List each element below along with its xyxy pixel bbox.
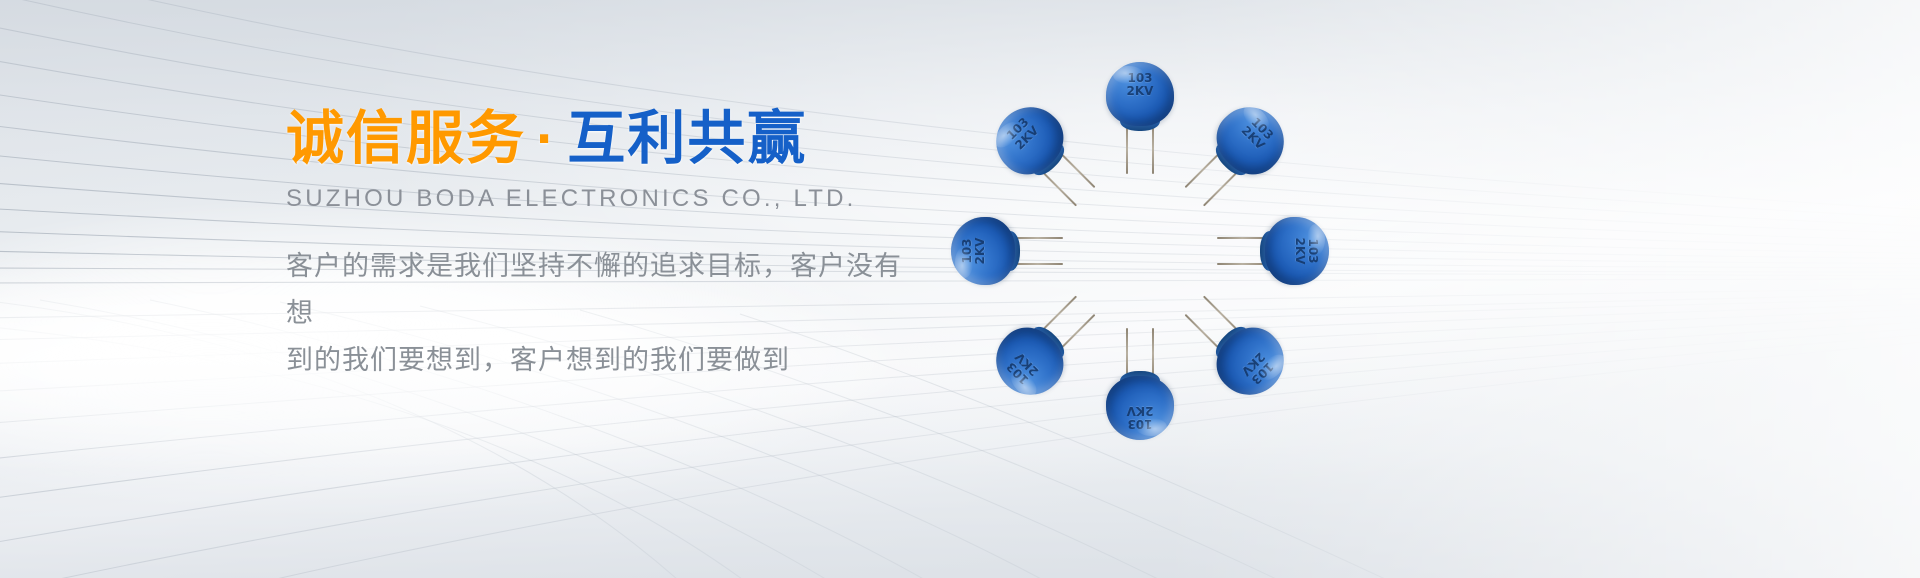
capacitor-lead — [1217, 237, 1263, 239]
capacitor-ring: 1032KV1032KV1032KV1032KV1032KV1032KV1032… — [915, 36, 1365, 456]
capacitor-marking: 1032KV — [961, 217, 986, 285]
capacitor-disc: 1032KV — [982, 93, 1075, 186]
banner-copy: 诚信服务·互利共赢 SUZHOU BODA ELECTRONICS CO., L… — [286, 108, 1006, 384]
capacitor-lead — [1017, 237, 1063, 239]
capacitor-marking: 1032KV — [1294, 217, 1319, 285]
capacitor-marking: 1032KV — [1106, 72, 1174, 97]
body-line-1: 客户的需求是我们坚持不懈的追求目标，客户没有想 — [286, 243, 926, 338]
capacitor-lead — [1126, 328, 1128, 374]
capacitor-marking: 1032KV — [1225, 336, 1291, 402]
capacitor-lead — [1203, 173, 1237, 207]
capacitor-lead — [1185, 154, 1219, 188]
capacitor-disc: 1032KV — [1204, 315, 1297, 408]
capacitor-marking: 1032KV — [1225, 100, 1291, 166]
hero-banner: 诚信服务·互利共赢 SUZHOU BODA ELECTRONICS CO., L… — [0, 0, 1920, 578]
capacitor-lead — [1185, 314, 1219, 348]
capacitor-lead — [1217, 263, 1263, 265]
capacitor-lead — [1017, 263, 1063, 265]
capacitor-lead — [1043, 296, 1077, 330]
banner-body-text: 客户的需求是我们坚持不懈的追求目标，客户没有想 到的我们要想到，客户想到的我们要… — [286, 243, 926, 385]
headline-separator-dot: · — [526, 106, 567, 171]
capacitor-disc: 1032KV — [1106, 62, 1174, 126]
capacitor-disc: 1032KV — [1204, 93, 1297, 186]
capacitor-lead — [1043, 173, 1077, 207]
product-image-capacitor-ring: 1032KV1032KV1032KV1032KV1032KV1032KV1032… — [915, 36, 1365, 456]
capacitor-marking: 1032KV — [989, 336, 1055, 402]
capacitor-lead — [1152, 128, 1154, 174]
capacitor-disc: 1032KV — [982, 315, 1075, 408]
body-line-2: 到的我们要想到，客户想到的我们要做到 — [286, 337, 926, 384]
company-name-english: SUZHOU BODA ELECTRONICS CO., LTD. — [286, 185, 1006, 213]
capacitor-lead — [1152, 328, 1154, 374]
capacitor-lead — [1062, 314, 1096, 348]
capacitor-lead — [1062, 154, 1096, 188]
capacitor-lead — [1203, 296, 1237, 330]
headline-blue-text: 互利共赢 — [567, 106, 807, 171]
capacitor-marking: 1032KV — [989, 100, 1055, 166]
headline-orange-text: 诚信服务 — [286, 106, 526, 171]
capacitor-disc: 1032KV — [1265, 217, 1329, 285]
capacitor-disc: 1032KV — [951, 217, 1015, 285]
capacitor-disc: 1032KV — [1106, 376, 1174, 440]
capacitor-lead — [1126, 128, 1128, 174]
capacitor-marking: 1032KV — [1106, 405, 1174, 430]
banner-headline: 诚信服务·互利共赢 — [286, 108, 1006, 171]
